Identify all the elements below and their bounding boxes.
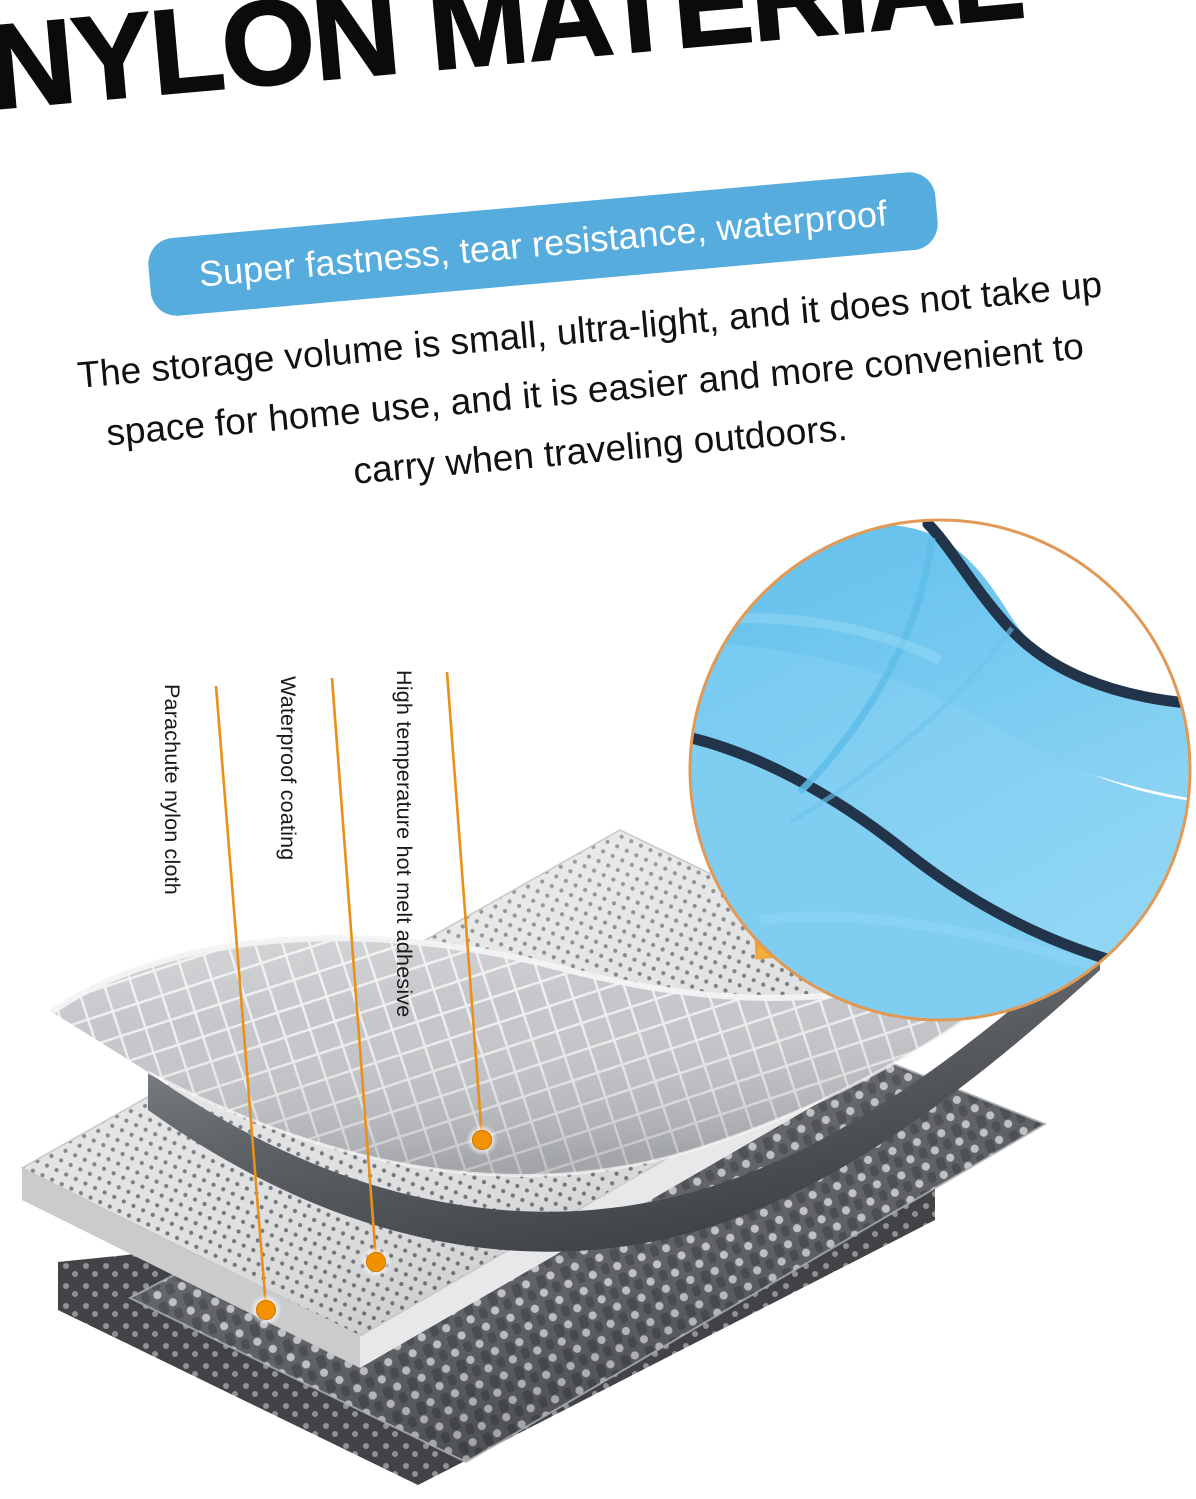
callout-label-high-temperature-hot-melt-adhesive: High temperature hot melt adhesive	[391, 670, 416, 1017]
product-infographic: NYLON MATERIAL Super fastness, tear resi…	[0, 0, 1196, 1499]
callout-label-waterproof-coating: Waterproof coating	[275, 676, 300, 860]
material-layers-diagram	[0, 500, 1196, 1499]
callout-label-parachute-nylon-cloth: Parachute nylon cloth	[159, 684, 184, 895]
feature-badge-label: Super fastness, tear resistance, waterpr…	[197, 192, 889, 295]
page-title: NYLON MATERIAL	[0, 0, 1129, 128]
